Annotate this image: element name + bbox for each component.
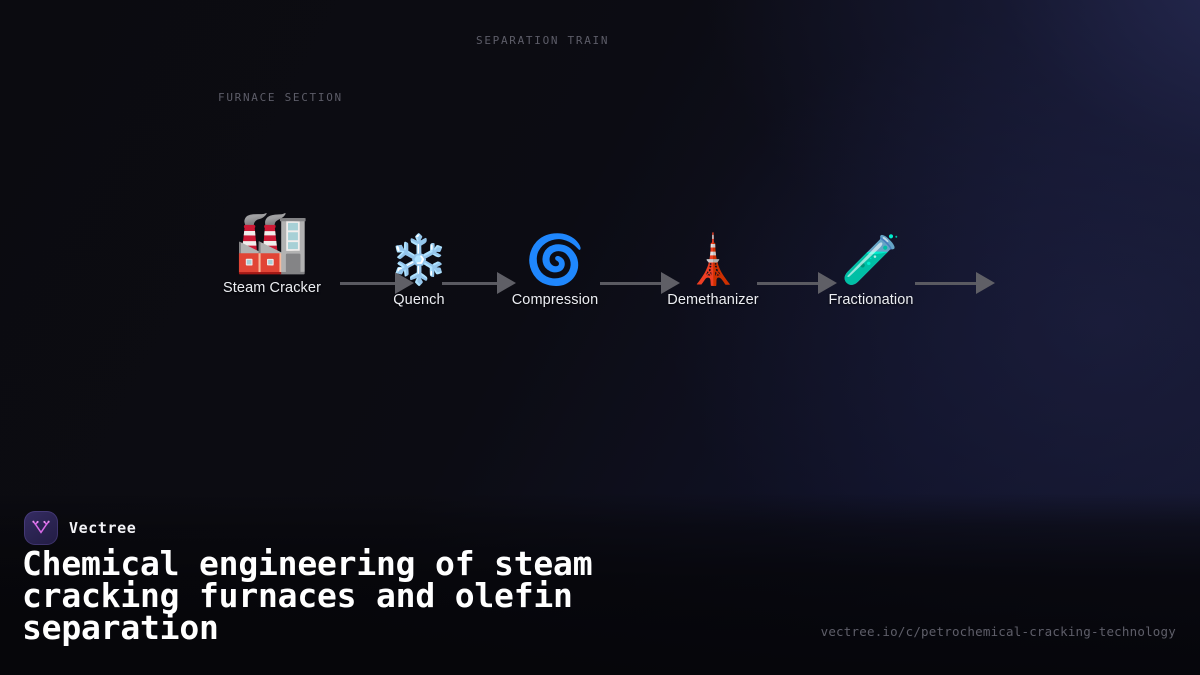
flow-node-label: Steam Cracker: [223, 280, 321, 296]
brand-name: Vectree: [69, 519, 136, 537]
flow-node-steam-cracker[interactable]: 🏭 Steam Cracker: [192, 212, 352, 296]
tokyo-tower-icon: 🗼: [683, 236, 743, 284]
source-url: vectree.io/c/petrochemical-cracking-tech…: [821, 624, 1176, 639]
flow-node-compression[interactable]: 🌀 Compression: [475, 236, 635, 308]
test-tube-icon: 🧪: [841, 236, 901, 284]
flow-node-demethanizer[interactable]: 🗼 Demethanizer: [633, 236, 793, 308]
flow-node-fractionation[interactable]: 🧪 Fractionation: [791, 236, 951, 308]
flow-node-label: Demethanizer: [667, 292, 758, 308]
flow-node-label: Quench: [393, 292, 444, 308]
poster-canvas: SEPARATION TRAIN FURNACE SECTION 🏭 Steam: [0, 0, 1200, 675]
page-title: Chemical engineering of steam cracking f…: [22, 548, 722, 644]
vectree-logo-icon: [24, 511, 58, 545]
flow-node-label: Fractionation: [828, 292, 913, 308]
cyclone-icon: 🌀: [525, 236, 585, 284]
arrow-head-icon: [976, 272, 995, 294]
brand-row[interactable]: Vectree: [24, 511, 136, 545]
flow-node-label: Compression: [512, 292, 599, 308]
factory-icon: 🏭: [235, 212, 310, 272]
snowflake-icon: ❄️: [389, 236, 449, 284]
